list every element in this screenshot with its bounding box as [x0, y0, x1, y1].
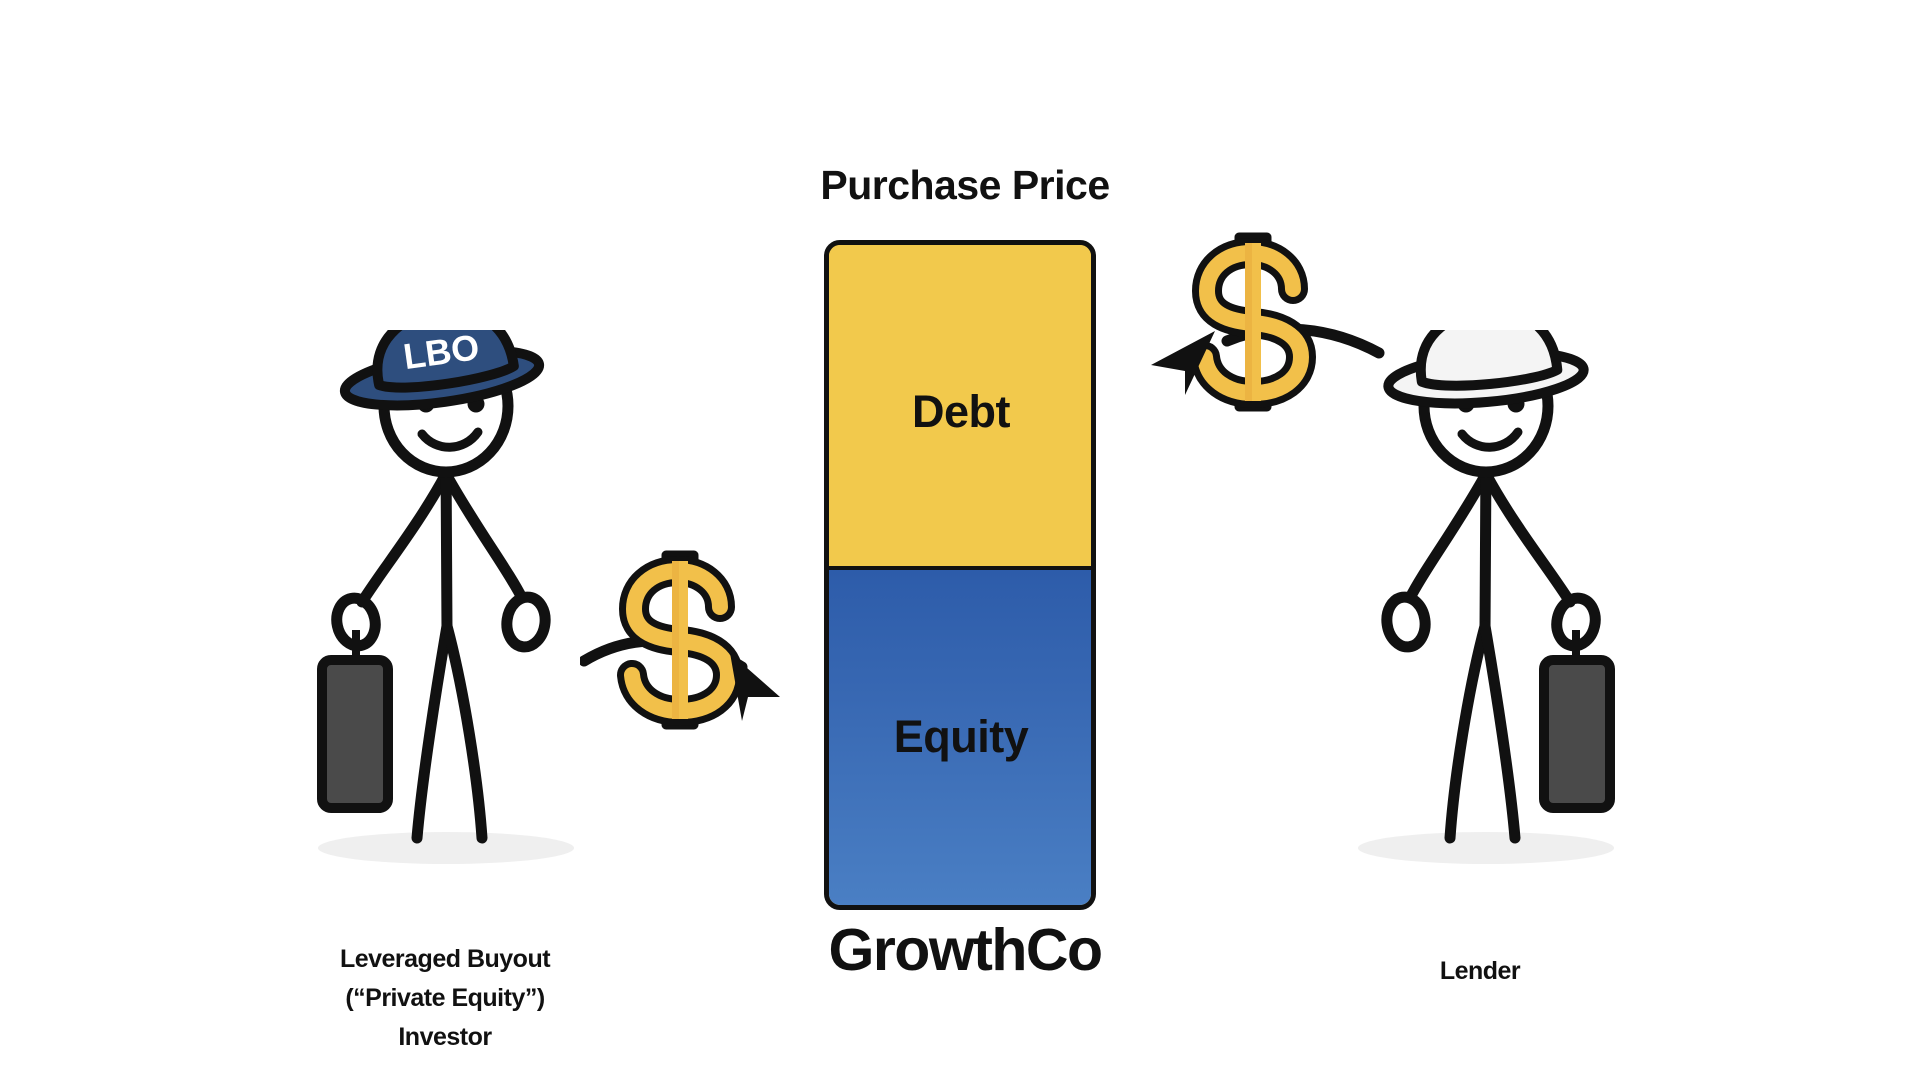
figure-right-arm: [446, 474, 522, 598]
diagram-canvas: Purchase Price Debt Equity GrowthCo: [0, 0, 1920, 1080]
dollar-sign-icon: [632, 555, 728, 725]
flow-arrow-head: [730, 653, 780, 721]
company-name-label: GrowthCo: [700, 915, 1230, 985]
dollar-sign-icon: [1205, 237, 1301, 407]
figure-left-leg: [417, 626, 447, 838]
figure-left-arm: [1410, 474, 1486, 598]
flow-equity-contribution: [580, 545, 820, 735]
figure-left-hand: [1384, 595, 1429, 650]
figure-right-arm: [1486, 474, 1570, 602]
figure-shadow: [318, 832, 574, 864]
actor-lender-label: Lender: [1300, 952, 1660, 991]
figure-right-hand: [504, 595, 549, 650]
page-title: Purchase Price: [660, 160, 1270, 210]
stack-segment-equity-label: Equity: [827, 710, 1095, 764]
figure-torso: [1485, 458, 1486, 630]
figure-torso: [446, 458, 447, 630]
hat-crown: [1416, 330, 1558, 390]
figure-right-leg: [1485, 626, 1515, 838]
briefcase: [1544, 660, 1610, 808]
flow-debt-financing: [1115, 225, 1385, 425]
briefcase: [322, 660, 388, 808]
figure-left-leg: [1450, 626, 1485, 838]
figure-left-arm: [362, 474, 446, 602]
stack-segment-debt-label: Debt: [827, 385, 1095, 439]
actor-lbo-investor-label: Leveraged Buyout (“Private Equity”) Inve…: [230, 940, 660, 1057]
capital-stack-bar: [824, 240, 1096, 910]
figure-right-leg: [447, 626, 482, 838]
figure-shadow: [1358, 832, 1614, 864]
